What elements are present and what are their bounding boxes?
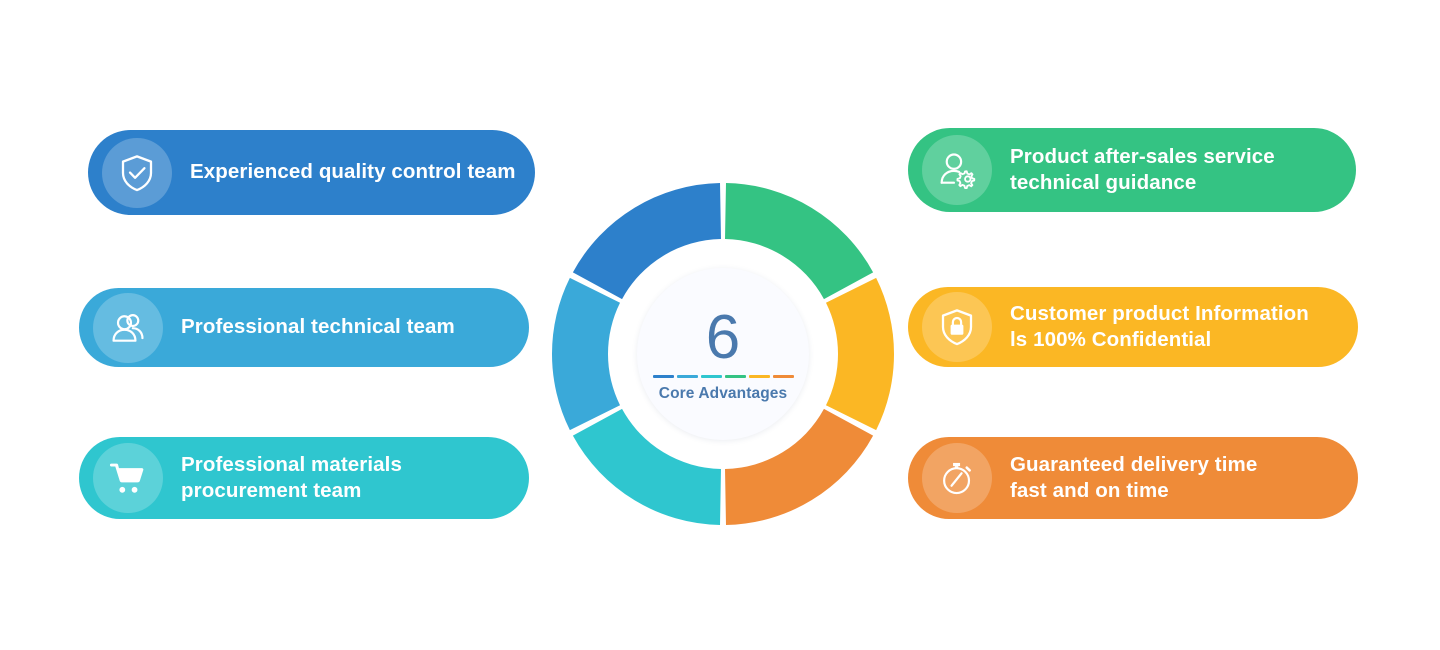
advantage-card-quality-control[interactable]: Experienced quality control team [88,130,535,215]
advantage-label: Guaranteed delivery time fast and on tim… [1010,452,1273,504]
advantage-count: 6 [706,307,740,369]
shield-check-icon [102,138,172,208]
advantage-label: Product after-sales service technical gu… [1010,144,1291,196]
advantage-label: Professional materials procurement team [181,452,418,504]
shopping-cart-icon [93,443,163,513]
advantage-label: Experienced quality control team [190,159,532,185]
user-gear-icon [922,135,992,205]
stopwatch-icon [922,443,992,513]
core-advantages-donut-chart: 6 Core Advantages [549,180,897,528]
hub-caption: Core Advantages [659,385,787,403]
advantage-card-confidentiality[interactable]: Customer product Information ls 100% Con… [908,287,1358,367]
advantage-label: Professional technical team [181,314,471,340]
donut-segment-amber [826,278,894,430]
infographic-canvas: Experienced quality control team Profess… [0,0,1440,650]
advantage-card-after-sales-service[interactable]: Product after-sales service technical gu… [908,128,1356,212]
hub-color-rule [653,375,794,378]
donut-hub: 6 Core Advantages [637,268,809,440]
advantage-card-technical-team[interactable]: Professional technical team [79,288,529,367]
shield-lock-icon [922,292,992,362]
advantage-label: Customer product Information ls 100% Con… [1010,301,1325,353]
advantage-card-materials-procurement[interactable]: Professional materials procurement team [79,437,529,519]
advantage-card-delivery-time[interactable]: Guaranteed delivery time fast and on tim… [908,437,1358,519]
donut-segment-sky [552,278,620,430]
users-group-icon [93,293,163,363]
